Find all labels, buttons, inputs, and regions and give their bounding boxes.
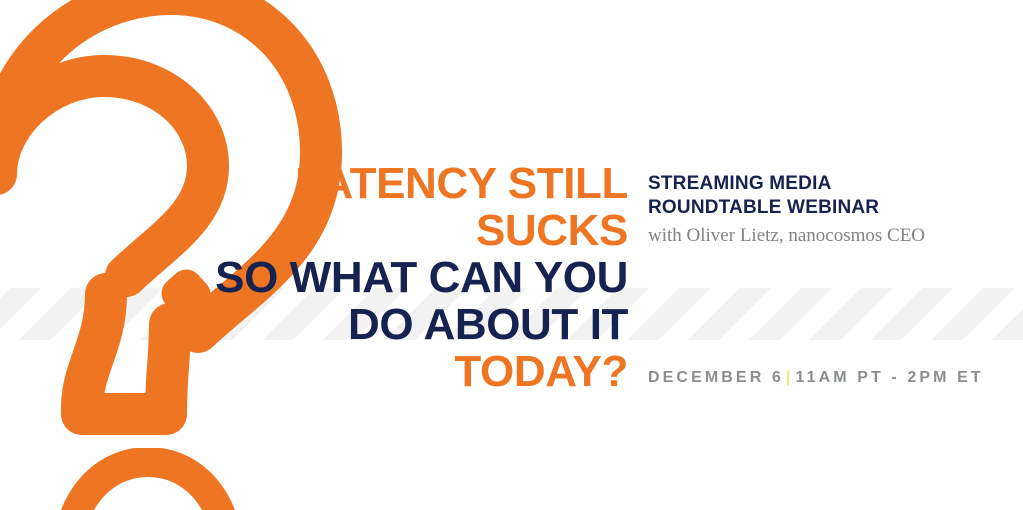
headline-line-5: TODAY? [180, 348, 628, 395]
event-time: 11AM PT - 2PM ET [795, 369, 983, 386]
question-mark-secondary-icon [48, 448, 248, 510]
event-datetime: DECEMBER 6|11AM PT - 2PM ET [648, 369, 984, 387]
headline-line-2: SUCKS [180, 207, 628, 254]
headline-block: LATENCY STILL SUCKS SO WHAT CAN YOU DO A… [180, 160, 628, 395]
webinar-info-block: STREAMING MEDIA ROUNDTABLE WEBINAR with … [648, 172, 1008, 249]
event-date: DECEMBER 6 [648, 369, 784, 386]
headline-line-3: SO WHAT CAN YOU [180, 254, 628, 301]
headline-line-1: LATENCY STILL [180, 160, 628, 207]
headline-line-4: DO ABOUT IT [180, 301, 628, 348]
event-separator: | [784, 369, 796, 386]
webinar-title-line-2: ROUNDTABLE WEBINAR [648, 196, 1008, 220]
webinar-byline: with Oliver Lietz, nanocosmos CEO [648, 223, 1008, 249]
webinar-title-line-1: STREAMING MEDIA [648, 172, 1008, 196]
promo-banner: LATENCY STILL SUCKS SO WHAT CAN YOU DO A… [0, 0, 1023, 510]
